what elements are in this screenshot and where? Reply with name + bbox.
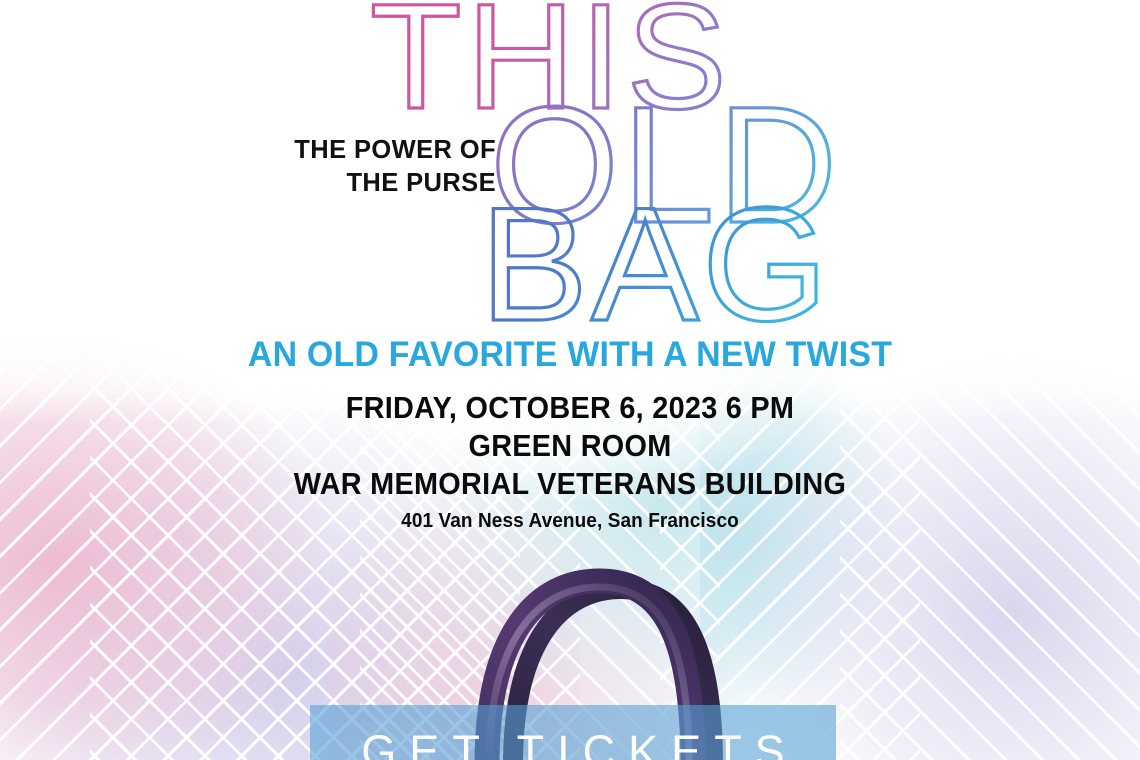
- headline-kicker: THE POWER OF THE PURSE: [268, 134, 496, 199]
- poster-tagline: AN OLD FAVORITE WITH A NEW TWIST: [17, 335, 1123, 375]
- event-address: 401 Van Ness Avenue, San Francisco: [29, 510, 1112, 533]
- get-tickets-button[interactable]: GET TICKETS: [310, 705, 836, 760]
- headline-word-bag: BAG: [480, 174, 831, 355]
- event-date-time: FRIDAY, OCTOBER 6, 2023 6 PM: [40, 390, 1100, 426]
- event-poster: THIS OLD BAG THE POWER OF THE PURSE AN O…: [0, 0, 1140, 760]
- event-venue: WAR MEMORIAL VETERANS BUILDING: [40, 466, 1100, 502]
- event-room: GREEN ROOM: [40, 428, 1100, 464]
- headline-lockup: THIS OLD BAG THE POWER OF THE PURSE: [0, 0, 1140, 330]
- get-tickets-label: GET TICKETS: [348, 729, 797, 760]
